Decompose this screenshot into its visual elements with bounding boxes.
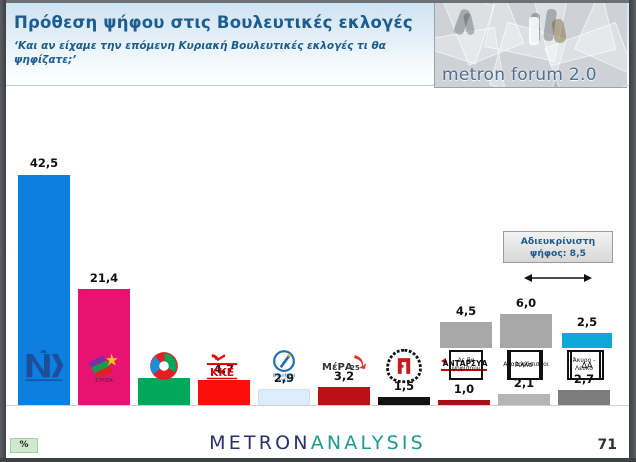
kke-logo-icon: ΚΚΕ [202,352,246,382]
axis-logo-nd [18,350,70,386]
syriza-logo-icon: ΣΥΡΙΖΑ [81,350,127,384]
undecided-vote-line1: Αδιευκρίνιστη [504,236,612,248]
nd-logo-icon [19,350,69,384]
bar-syriza [78,289,130,406]
axis-label-da-text: ΔΑ [582,361,593,370]
bar-anapofasistoi [500,314,552,348]
metron-logo-part1: METRON [209,432,311,454]
axis-label-da: ΔΑ [570,350,604,380]
bar-value-syriza: 21,4 [78,271,130,285]
svg-text:ΚΚΕ: ΚΚΕ [210,366,234,379]
svg-text:ΛΥΣΗ: ΛΥΣΗ [278,378,290,384]
page-title: Πρόθεση ψήφου στις Βουλευτικές εκλογές [14,13,413,32]
axis-logo-kke: ΚΚΕ [198,352,250,386]
metron-analysis-logo: METRONANALYSIS [6,432,629,454]
bar-de-tha-psifisoun [440,322,492,348]
bar-da [562,333,612,348]
axis-label-de-tha-psifisoun: Δε θα ψηφίσουν [449,350,483,380]
bar-value-anapofasistoi: 6,0 [500,296,552,310]
mera25-logo-icon: ΜέΡΑ 25 [319,352,369,380]
axis-logo-elliniki-lysi: ΕΛΛΗΝΙΚΗ ΛΥΣΗ [258,348,310,386]
slide: Πρόθεση ψήφου στις Βουλευτικές εκλογές ‘… [0,0,636,462]
ellines-laurel-logo-icon [384,348,424,384]
brand-text: metron forum 2.0 [442,65,597,85]
bar-akyro-lefko [558,390,610,406]
bar-column-de-tha-psifisoun: 4,5 [440,86,492,348]
elliniki-lysi-logo-icon: ΕΛΛΗΝΙΚΗ ΛΥΣΗ [267,348,301,384]
page-number: 71 [598,437,617,453]
axis-logo-syriza: ΣΥΡΙΖΑ [78,350,130,386]
page-subtitle: ‘Και αν είχαμε την επόμενη Κυριακή Βουλε… [14,39,444,67]
bar-column-anapofasistoi: 6,0 [500,86,552,348]
slide-border-bottom [0,458,636,462]
slide-header: Πρόθεση ψήφου στις Βουλευτικές εκλογές ‘… [6,3,629,86]
undecided-vote-line2: ψήφος: 8,5 [504,248,612,260]
bar-mera25 [318,387,370,406]
bar-value-nd: 42,5 [18,156,70,170]
axis-label-anapofasistoi: Αναποφάσιστοι [509,350,543,380]
undecided-vote-annotation: Αδιευκρίνιστη ψήφος: 8,5 [503,231,613,263]
pasok-logo-icon [147,350,181,382]
double-headed-arrow-icon [524,272,592,284]
bar-value-da: 2,5 [562,315,612,329]
slide-footer: % METRONANALYSIS 71 [6,405,629,458]
axis-logo-ellines [378,348,430,386]
axis-logo-pasok [138,350,190,386]
svg-text:25: 25 [350,364,360,372]
svg-text:ΜέΡΑ: ΜέΡΑ [322,361,353,373]
axis-label-de-tha-psifisoun-text: Δε θα ψηφίσουν [452,357,480,373]
svg-text:ΣΥΡΙΖΑ: ΣΥΡΙΖΑ [95,378,113,384]
axis-label-anapofasistoi-text: Αναποφάσιστοι [503,361,549,369]
bar-value-de-tha-psifisoun: 4,5 [440,304,492,318]
svg-text:ΕΛΛΗΝΙΚΗ: ΕΛΛΗΝΙΚΗ [273,373,296,379]
slide-border-right [629,0,636,462]
axis-logo-mera25: ΜέΡΑ 25 [318,352,370,386]
bar-elliniki-lysi [258,389,310,406]
metron-forum-banner-image: metron forum 2.0 [434,3,627,88]
bar-column-da: 2,5 [562,86,612,348]
metron-logo-part2: ANALYSIS [311,432,426,454]
